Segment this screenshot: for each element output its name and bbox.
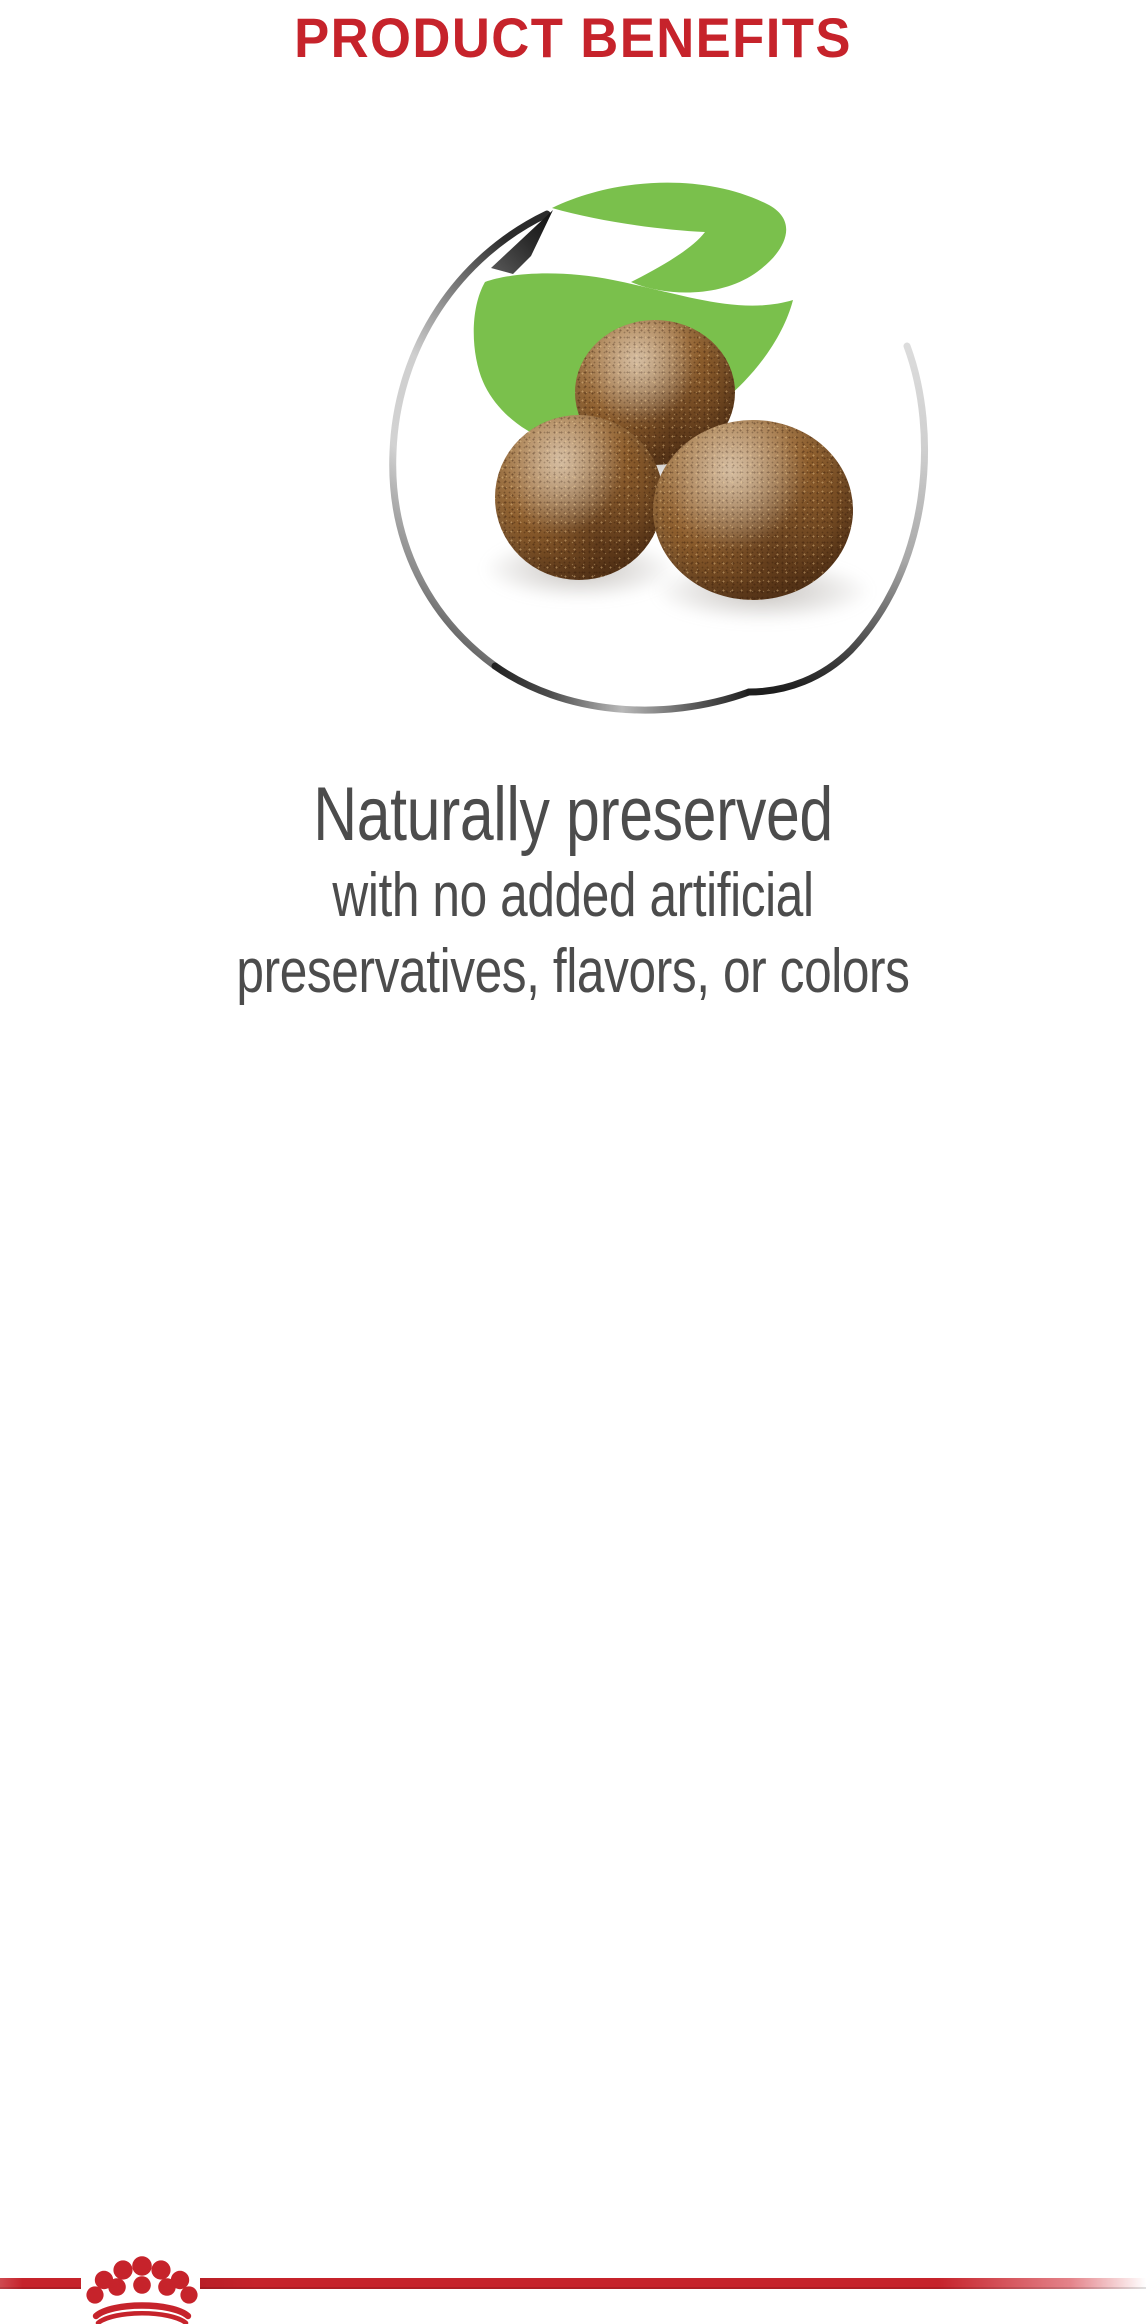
benefit-subline-1: with no added artificial [115, 858, 1032, 934]
benefit-copy: Naturally preserved with no added artifi… [0, 772, 1146, 1010]
ring-arc-bottom [495, 666, 749, 710]
product-benefits-panel: PRODUCT BENEFITS [0, 0, 1146, 1200]
brand-rule-right [200, 2278, 1146, 2289]
benefit-subline-2: preservatives, flavors, or colors [115, 934, 1032, 1010]
naturally-preserved-badge [363, 170, 958, 730]
kibble-pieces [475, 320, 875, 620]
royal-canin-crown-icon [84, 2254, 200, 2324]
kibble-piece [495, 415, 663, 580]
page-title: PRODUCT BENEFITS [34, 6, 1111, 70]
brand-rule-left [0, 2278, 81, 2289]
kibble-piece [653, 420, 853, 600]
benefit-headline: Naturally preserved [115, 772, 1032, 858]
footer-brand-bar [0, 1126, 1146, 1200]
